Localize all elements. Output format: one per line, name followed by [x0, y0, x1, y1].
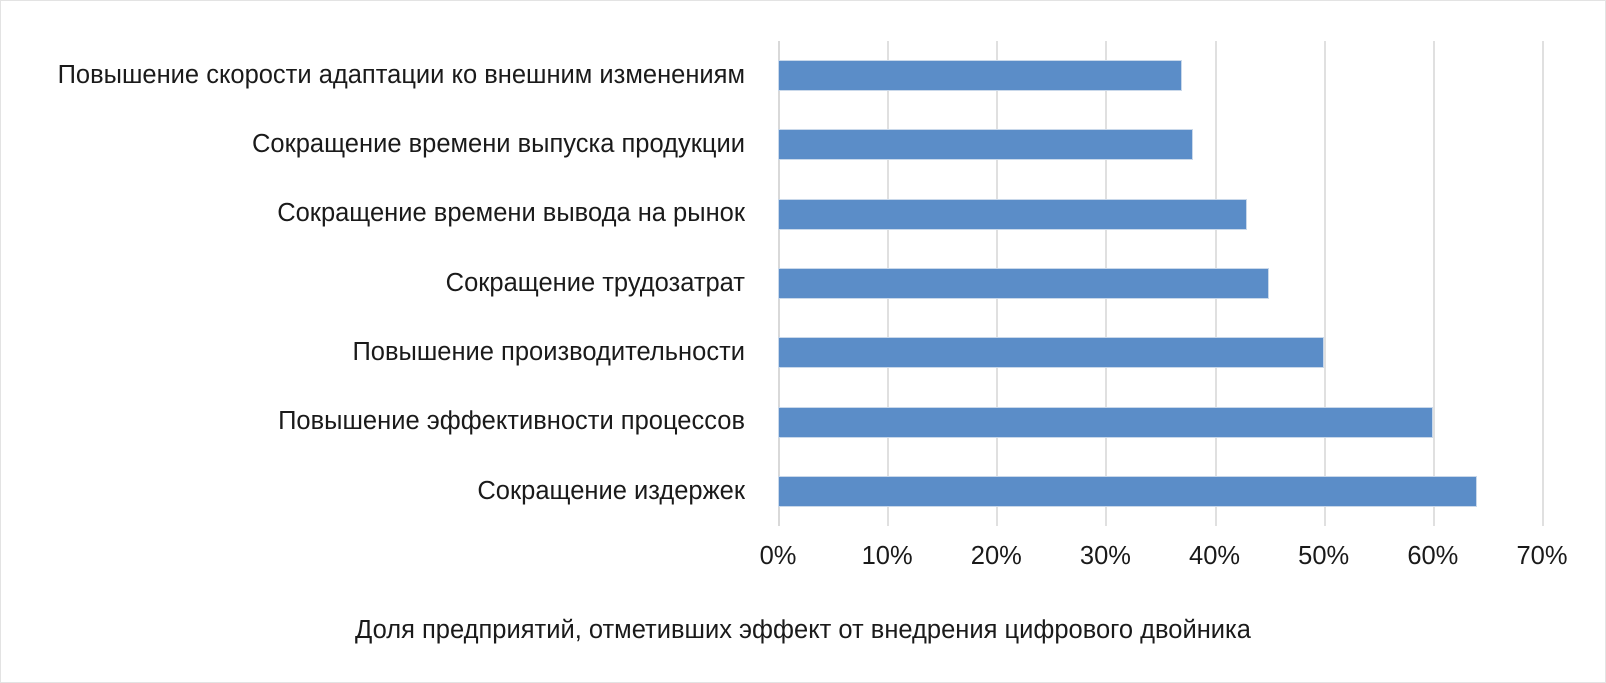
bar[interactable] — [778, 199, 1247, 230]
bar[interactable] — [778, 476, 1477, 507]
bar-row[interactable] — [778, 457, 1542, 526]
category-label: Сокращение трудозатрат — [1, 249, 745, 318]
category-label: Сокращение времени выпуска продукции — [1, 110, 745, 179]
bar-row[interactable] — [778, 110, 1542, 179]
plot-area — [778, 41, 1542, 526]
value-tick-label: 40% — [1189, 544, 1240, 570]
category-label: Сокращение издержек — [1, 457, 745, 526]
bar[interactable] — [778, 268, 1269, 299]
bar-row[interactable] — [778, 180, 1542, 249]
bar[interactable] — [778, 60, 1182, 91]
bar[interactable] — [778, 407, 1433, 438]
value-tick-label: 30% — [1080, 544, 1131, 570]
category-label: Повышение скорости адаптации ко внешним … — [1, 41, 745, 110]
bar[interactable] — [778, 337, 1324, 368]
category-label: Повышение производительности — [1, 318, 745, 387]
category-label: Повышение эффективности процессов — [1, 387, 745, 456]
category-axis-labels: Повышение скорости адаптации ко внешним … — [1, 41, 763, 526]
bar-row[interactable] — [778, 387, 1542, 456]
value-tick-label: 10% — [862, 544, 913, 570]
value-tick-label: 70% — [1516, 544, 1567, 570]
value-axis-tick-labels: 0%10%20%30%40%50%60%70% — [1, 544, 1606, 584]
value-tick-label: 50% — [1298, 544, 1349, 570]
value-axis-title: Доля предприятий, отметивших эффект от в… — [1, 618, 1605, 644]
gridline — [1542, 41, 1544, 526]
bar[interactable] — [778, 129, 1193, 160]
value-tick-label: 60% — [1407, 544, 1458, 570]
bar-row[interactable] — [778, 318, 1542, 387]
value-tick-label: 0% — [760, 544, 797, 570]
value-tick-label: 20% — [971, 544, 1022, 570]
chart-container: Повышение скорости адаптации ко внешним … — [0, 0, 1606, 683]
category-label: Сокращение времени вывода на рынок — [1, 180, 745, 249]
bar-row[interactable] — [778, 41, 1542, 110]
bar-row[interactable] — [778, 249, 1542, 318]
